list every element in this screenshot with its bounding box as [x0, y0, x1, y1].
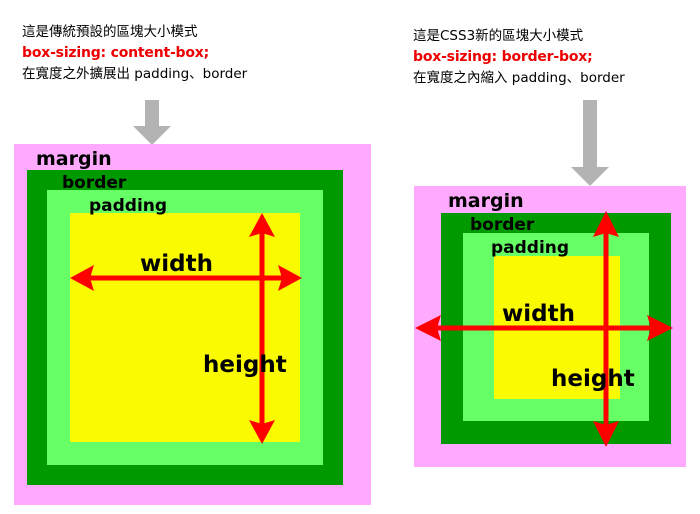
border-label-left: border — [62, 175, 126, 192]
down-arrow-icon-right — [569, 100, 611, 187]
height-label-left: height — [203, 354, 287, 377]
down-arrow-icon-left — [131, 100, 173, 146]
caption-border-box: 這是CSS3新的區塊大小模式 box-sizing: border-box; 在… — [413, 26, 625, 89]
padding-label-right: padding — [491, 240, 569, 257]
caption-line-3: 在寬度之外擴展出 padding、border — [22, 64, 247, 85]
padding-label-left: padding — [89, 198, 167, 215]
caption-code-border-box: box-sizing: border-box; — [413, 47, 625, 68]
margin-label-right: margin — [448, 192, 524, 211]
margin-label-left: margin — [36, 150, 112, 169]
width-label-left: width — [140, 253, 213, 276]
width-label-right: width — [502, 303, 575, 326]
caption-line-1: 這是傳統預設的區塊大小模式 — [22, 22, 247, 43]
caption-content-box: 這是傳統預設的區塊大小模式 box-sizing: content-box; 在… — [22, 22, 247, 85]
caption-line-3: 在寬度之內縮入 padding、border — [413, 68, 625, 89]
height-label-right: height — [551, 368, 635, 391]
caption-line-1: 這是CSS3新的區塊大小模式 — [413, 26, 625, 47]
height-arrow-right — [592, 211, 620, 447]
caption-code-content-box: box-sizing: content-box; — [22, 43, 247, 64]
border-label-right: border — [470, 217, 534, 234]
height-arrow-left — [248, 213, 276, 444]
